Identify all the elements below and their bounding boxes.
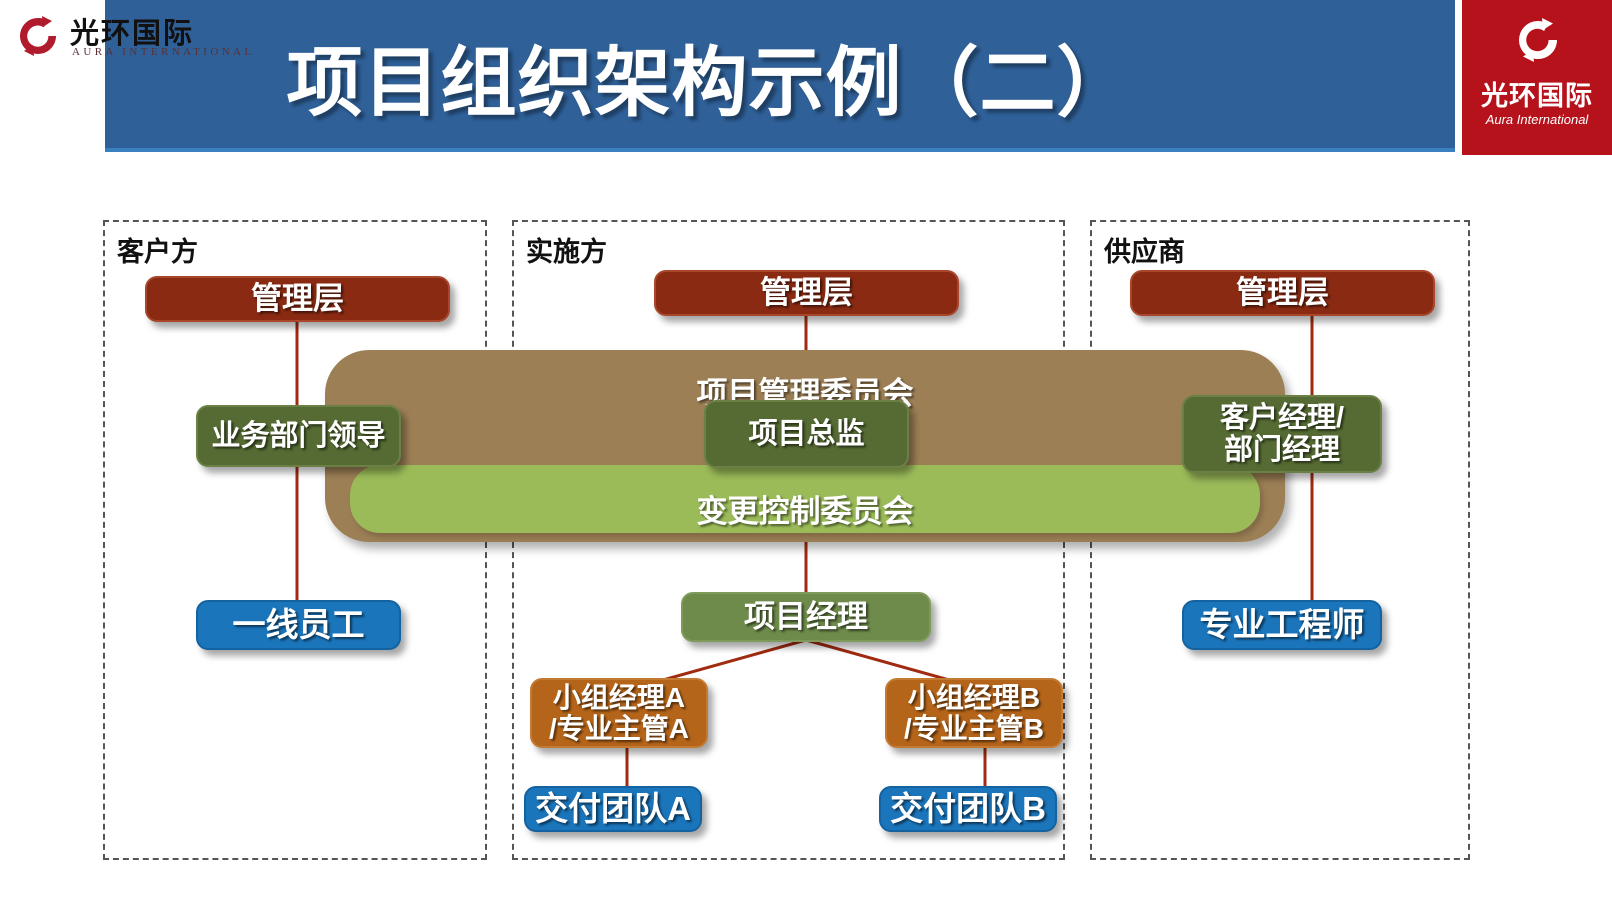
aura-arc-mark-icon (12, 10, 64, 62)
node-vendor-management[interactable]: 管理层 (1130, 270, 1435, 316)
change-control-committee-label: 变更控制委员会 (325, 486, 1285, 531)
node-client-frontline-staff[interactable]: 一线员工 (196, 600, 401, 650)
node-vendor-account-manager[interactable]: 客户经理/ 部门经理 (1182, 395, 1382, 473)
lane-label-client: 客户方 (117, 230, 198, 269)
lane-label-vendor: 供应商 (1104, 230, 1185, 269)
node-project-manager[interactable]: 项目经理 (681, 592, 931, 642)
node-vendor-engineer[interactable]: 专业工程师 (1182, 600, 1382, 650)
logo-right-block: 光环国际 Aura International (1462, 0, 1612, 155)
node-client-department-leader[interactable]: 业务部门领导 (196, 405, 401, 467)
node-team-manager-b[interactable]: 小组经理B /专业主管B (885, 678, 1063, 748)
aura-arc-mark-icon (1510, 12, 1566, 68)
logo-left: 光环国际 AURA INTERNATIONAL (8, 8, 198, 70)
node-delivery-team-a[interactable]: 交付团队A (524, 786, 702, 832)
node-client-management[interactable]: 管理层 (145, 276, 450, 322)
node-project-director[interactable]: 项目总监 (704, 400, 909, 468)
node-delivery-team-b[interactable]: 交付团队B (879, 786, 1057, 832)
logo-right-en: Aura International (1462, 112, 1612, 127)
page-title: 项目组织架构示例（二） (210, 14, 1210, 138)
logo-left-en: AURA INTERNATIONAL (72, 46, 255, 58)
logo-right-cn: 光环国际 (1462, 74, 1612, 113)
lane-label-implementer: 实施方 (526, 230, 607, 269)
node-team-manager-a[interactable]: 小组经理A /专业主管A (530, 678, 708, 748)
node-implementer-management[interactable]: 管理层 (654, 270, 959, 316)
